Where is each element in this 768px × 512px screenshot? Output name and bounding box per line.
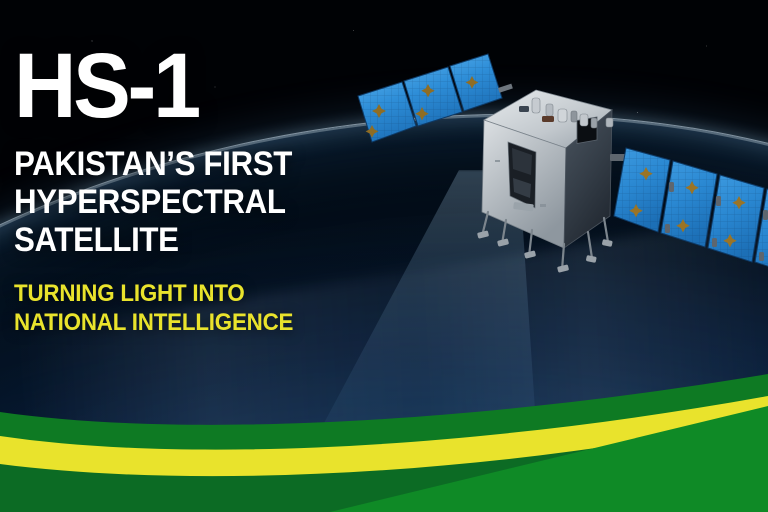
subtitle-line-3: SATELLITE: [14, 221, 382, 259]
right-solar-array: [614, 148, 768, 276]
tagline-line-1: TURNING LIGHT INTO: [14, 279, 386, 308]
subtitle-line-1: PAKISTAN’S FIRST: [14, 145, 382, 183]
bus-marking: [495, 160, 500, 162]
tagline-line-2: NATIONAL INTELLIGENCE: [14, 308, 386, 337]
satellite-bus: [477, 90, 628, 273]
solar-panel-right-3: [708, 175, 764, 262]
subtitle-line-2: HYPERSPECTRAL: [14, 183, 382, 221]
page-title: HS-1: [14, 44, 390, 129]
hs1-satellite-banner: HS-1 PAKISTAN’S FIRST HYPERSPECTRAL SATE…: [0, 0, 768, 512]
bus-marking: [540, 204, 546, 207]
left-array-yoke: [498, 84, 513, 93]
tagline: TURNING LIGHT INTO NATIONAL INTELLIGENCE: [14, 279, 386, 338]
headline-text-block: HS-1 PAKISTAN’S FIRST HYPERSPECTRAL SATE…: [14, 44, 414, 337]
subtitle: PAKISTAN’S FIRST HYPERSPECTRAL SATELLITE: [14, 145, 382, 260]
solar-panel-right-2: [661, 161, 717, 247]
